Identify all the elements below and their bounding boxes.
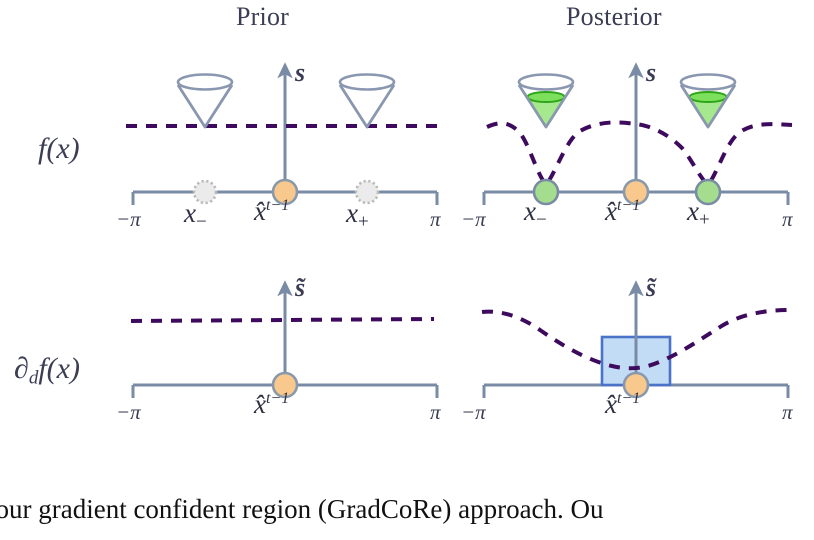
- point-label-xhat: x̂: [254, 196, 266, 226]
- tick-label-right-posterior-gradient: π: [782, 400, 793, 425]
- panel-prior-fx: [126, 70, 437, 205]
- point-label-xhat: x̂: [605, 389, 617, 419]
- point-label-x-hat-posterior: x̂t−1: [605, 196, 640, 227]
- panel-posterior-gradient: [482, 288, 792, 398]
- dashed-curve-posterior-fx: [487, 122, 792, 185]
- tick-label-right-posterior-fx: π: [782, 207, 793, 232]
- point-label-x: x: [184, 198, 196, 228]
- tick-label-left-prior-gradient: −π: [116, 400, 141, 425]
- tick-label-right-prior-gradient: π: [430, 400, 441, 425]
- point-label-x-hat-posterior-gradient: x̂t−1: [605, 389, 640, 420]
- point-label-x-minus-prior: x−: [184, 198, 207, 234]
- cone-icon-x-minus-posterior: [519, 75, 573, 128]
- tick-label-left-posterior-gradient: −π: [461, 400, 486, 425]
- axis-label-stilde-prior: s̃: [295, 273, 305, 303]
- axis-label-s-prior: s: [295, 58, 305, 88]
- dashed-curve-prior-gradient: [131, 319, 434, 321]
- point-label-x-minus-posterior: x−: [524, 196, 547, 232]
- point-label-xhat: x̂: [605, 196, 617, 226]
- point-label-xhat-sup: t−1: [617, 390, 640, 407]
- figure-root: Prior Posterior f(x) ∂df(x): [0, 0, 814, 540]
- cone-icon-x-minus-prior: [178, 75, 232, 128]
- point-label-xhat-sup: t−1: [617, 197, 640, 214]
- point-label-x: x: [346, 198, 358, 228]
- point-label-xhat: x̂: [254, 389, 266, 419]
- point-label-x-sub: −: [536, 210, 547, 231]
- axis-label-stilde-posterior: s̃: [646, 273, 656, 303]
- cone-icon-x-plus-posterior: [681, 75, 735, 128]
- point-label-x-sub: −: [196, 212, 207, 233]
- point-label-x: x: [524, 196, 536, 226]
- point-label-x-sub: +: [699, 210, 710, 231]
- panel-posterior-fx: [484, 70, 792, 205]
- point-label-x-sub: +: [358, 212, 369, 233]
- panel-prior-gradient: [131, 288, 437, 398]
- point-label-x-plus-posterior: x+: [687, 196, 710, 232]
- tick-label-right-prior-fx: π: [430, 207, 441, 232]
- point-label-xhat-sup: t−1: [266, 197, 289, 214]
- cone-icon-x-plus-prior: [340, 75, 394, 128]
- tick-label-left-prior-fx: −π: [116, 207, 141, 232]
- point-label-x: x: [687, 196, 699, 226]
- tick-label-left-posterior-fx: −π: [461, 207, 486, 232]
- point-label-x-hat-prior-gradient: x̂t−1: [254, 389, 289, 420]
- point-label-xhat-sup: t−1: [266, 390, 289, 407]
- diagram-svg: [0, 0, 814, 540]
- point-label-x-plus-prior: x+: [346, 198, 369, 234]
- axis-label-s-posterior: s: [646, 58, 656, 88]
- figure-caption: n of our gradient confident region (Grad…: [0, 494, 814, 525]
- point-label-x-hat-prior: x̂t−1: [254, 196, 289, 227]
